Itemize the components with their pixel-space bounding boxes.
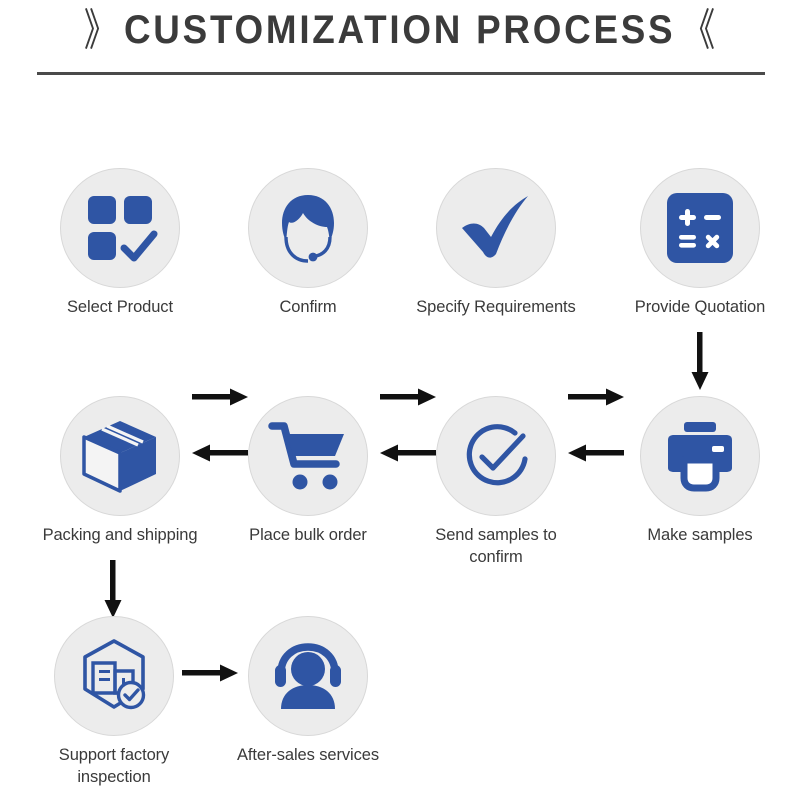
step-label: Select Product	[40, 297, 200, 319]
step-label: Provide Quotation	[620, 297, 780, 319]
step-icon-circle	[436, 396, 556, 516]
step-icon-circle	[640, 396, 760, 516]
step-node-support-factory-inspection[interactable]: Support factory inspection	[34, 616, 194, 789]
headset-agent-icon	[269, 189, 347, 267]
chevron-right-icon: 《	[683, 9, 715, 53]
step-label: Packing and shipping	[40, 525, 200, 547]
arrow-step8-to-step9	[102, 560, 124, 618]
step-node-send-samples-to-confirm[interactable]: Send samples to confirm	[416, 396, 576, 569]
printer-icon	[662, 420, 738, 492]
step-node-after-sales-services[interactable]: After-sales services	[228, 616, 388, 767]
step-icon-circle	[640, 168, 760, 288]
page-header: 》 CUSTOMIZATION PROCESS 《	[0, 8, 800, 53]
step-icon-circle	[436, 168, 556, 288]
step-icon-circle	[54, 616, 174, 736]
arrow-step5-to-step6	[568, 442, 624, 464]
arrow-step4-to-step5	[689, 332, 711, 390]
step-icon-circle	[248, 616, 368, 736]
product-grid-check-icon	[82, 190, 158, 266]
step-node-confirm[interactable]: Confirm	[228, 168, 388, 319]
package-box-icon	[80, 417, 160, 495]
step-label: Place bulk order	[228, 525, 388, 547]
step-node-place-bulk-order[interactable]: Place bulk order	[228, 396, 388, 547]
circle-check-icon	[457, 417, 535, 495]
step-label: Confirm	[228, 297, 388, 319]
step-node-specify-requirements[interactable]: Specify Requirements	[416, 168, 576, 319]
step-label: After-sales services	[228, 745, 388, 767]
page-title: 》 CUSTOMIZATION PROCESS 《	[80, 8, 720, 53]
step-label: Support factory inspection	[34, 745, 194, 789]
step-node-select-product[interactable]: Select Product	[40, 168, 200, 319]
arrow-step3-to-step4	[568, 386, 624, 408]
step-label: Send samples to confirm	[416, 525, 576, 569]
step-icon-circle	[248, 396, 368, 516]
support-person-icon	[269, 639, 347, 713]
step-node-make-samples[interactable]: Make samples	[620, 396, 780, 547]
page-title-text: CUSTOMIZATION PROCESS	[124, 8, 675, 53]
step-label: Make samples	[620, 525, 780, 547]
chevron-left-icon: 》	[84, 9, 116, 53]
factory-quality-badge-icon	[75, 637, 153, 715]
title-divider	[37, 72, 765, 75]
step-node-packing-and-shipping[interactable]: Packing and shipping	[40, 396, 200, 547]
step-label: Specify Requirements	[416, 297, 576, 319]
step-node-provide-quotation[interactable]: Provide Quotation	[620, 168, 780, 319]
step-icon-circle	[60, 168, 180, 288]
step-icon-circle	[60, 396, 180, 516]
calculator-icon	[665, 191, 735, 265]
checkmark-icon	[458, 192, 534, 264]
step-icon-circle	[248, 168, 368, 288]
shopping-cart-icon	[268, 420, 348, 492]
